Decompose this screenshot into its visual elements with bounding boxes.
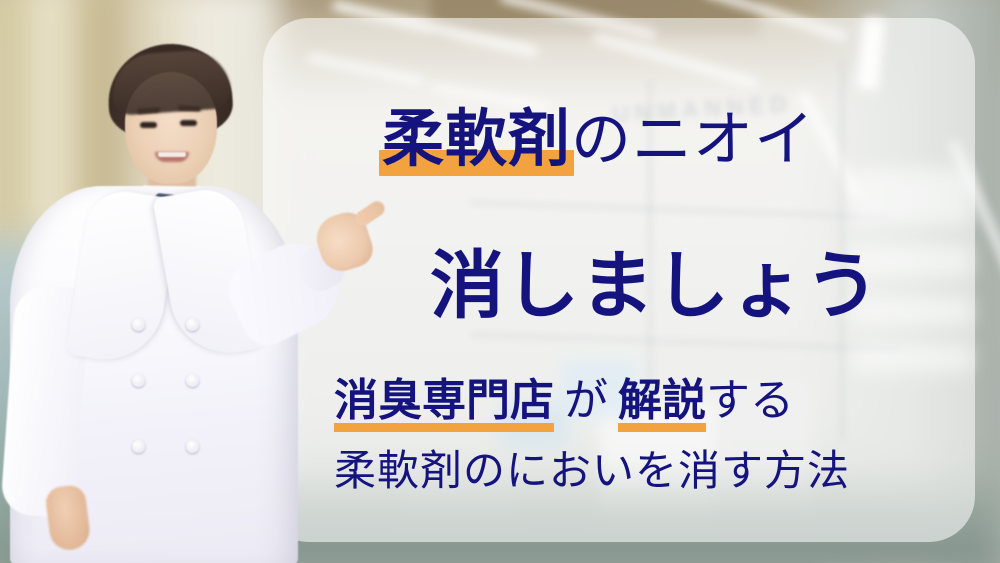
presenter-figure	[0, 0, 340, 563]
headline-line-1-rest: のニオイ	[571, 106, 815, 173]
eye-left	[140, 122, 157, 128]
headline-line-4: 柔軟剤のにおいを消す方法	[334, 437, 850, 498]
underlined-phrase-shoushu-senmonten: 消臭専門店	[334, 364, 554, 428]
headline-line-1: 柔軟剤のニオイ	[382, 88, 815, 178]
eye-right	[180, 120, 197, 126]
highlighted-phrase-juunanzai: 柔軟剤	[382, 88, 571, 178]
headline-line-3-particle: が	[554, 376, 618, 425]
teeth	[158, 152, 186, 157]
headline-line-2: 消しましょう	[430, 226, 880, 333]
coat-button	[186, 440, 199, 453]
coat-button	[186, 318, 199, 331]
headline-line-3: 消臭専門店が解説する	[334, 364, 794, 428]
thumbnail-canvas: UNMANNED 柔軟剤のニオイ	[0, 0, 1000, 563]
coat-button	[186, 374, 199, 387]
coat-button	[132, 318, 145, 331]
coat-button	[132, 440, 145, 453]
coat-button	[132, 374, 145, 387]
underlined-phrase-kaisetsu: 解説	[618, 364, 706, 428]
headline-line-3-tail: する	[706, 376, 794, 425]
